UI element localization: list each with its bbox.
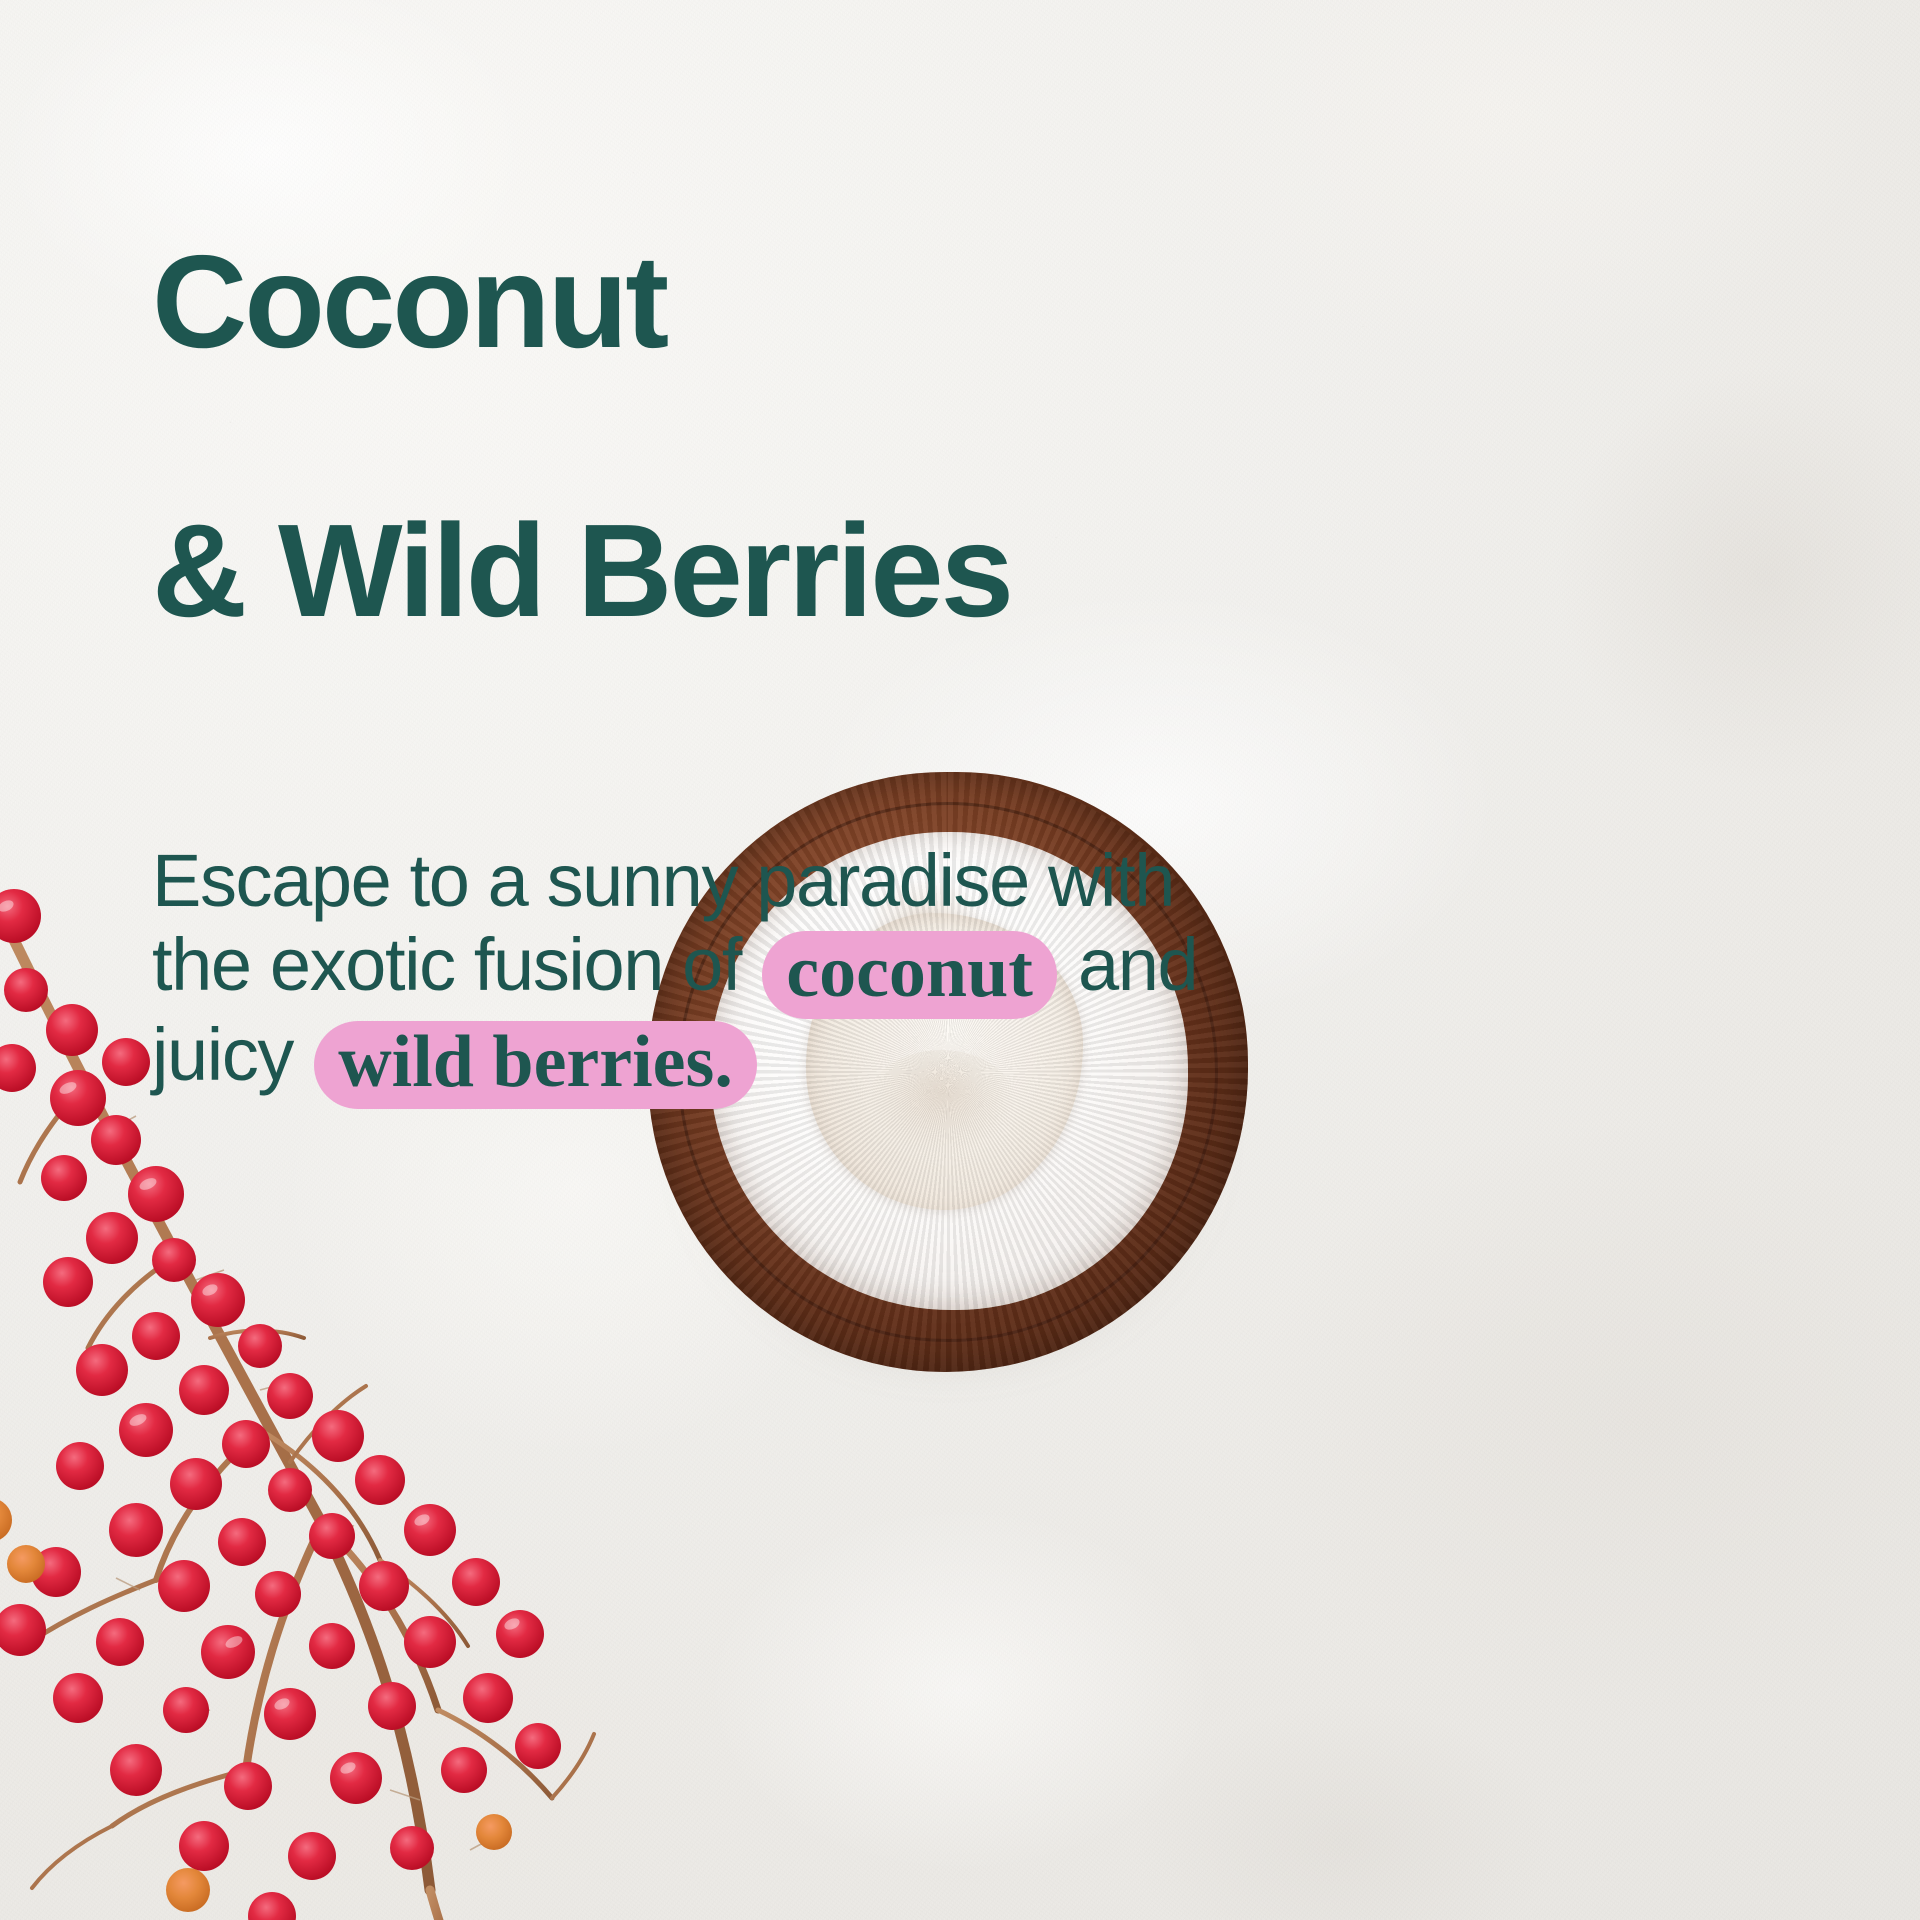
subcopy-line-3-before: juicy: [152, 1013, 293, 1096]
subcopy-line-3: juicy wild berries.: [152, 1013, 1572, 1103]
subcopy: Escape to a sunny paradise with the exot…: [152, 839, 1572, 1103]
text-block: Coconut & Wild Berries Escape to a sunny…: [152, 100, 1572, 1103]
headline-line-1: Coconut: [152, 235, 1572, 370]
subcopy-line-2-after: and: [1078, 923, 1197, 1006]
poster-canvas: Coconut & Wild Berries Escape to a sunny…: [0, 0, 1920, 1920]
highlight-wild-berries: wild berries.: [314, 1021, 757, 1109]
subcopy-line-2: the exotic fusion of coconut and: [152, 923, 1572, 1013]
subcopy-line-1: Escape to a sunny paradise with: [152, 839, 1572, 923]
page-title: Coconut & Wild Berries: [152, 100, 1572, 773]
highlight-coconut: coconut: [762, 931, 1057, 1019]
headline-line-2: & Wild Berries: [152, 504, 1572, 639]
subcopy-line-2-before: the exotic fusion of: [152, 923, 741, 1006]
